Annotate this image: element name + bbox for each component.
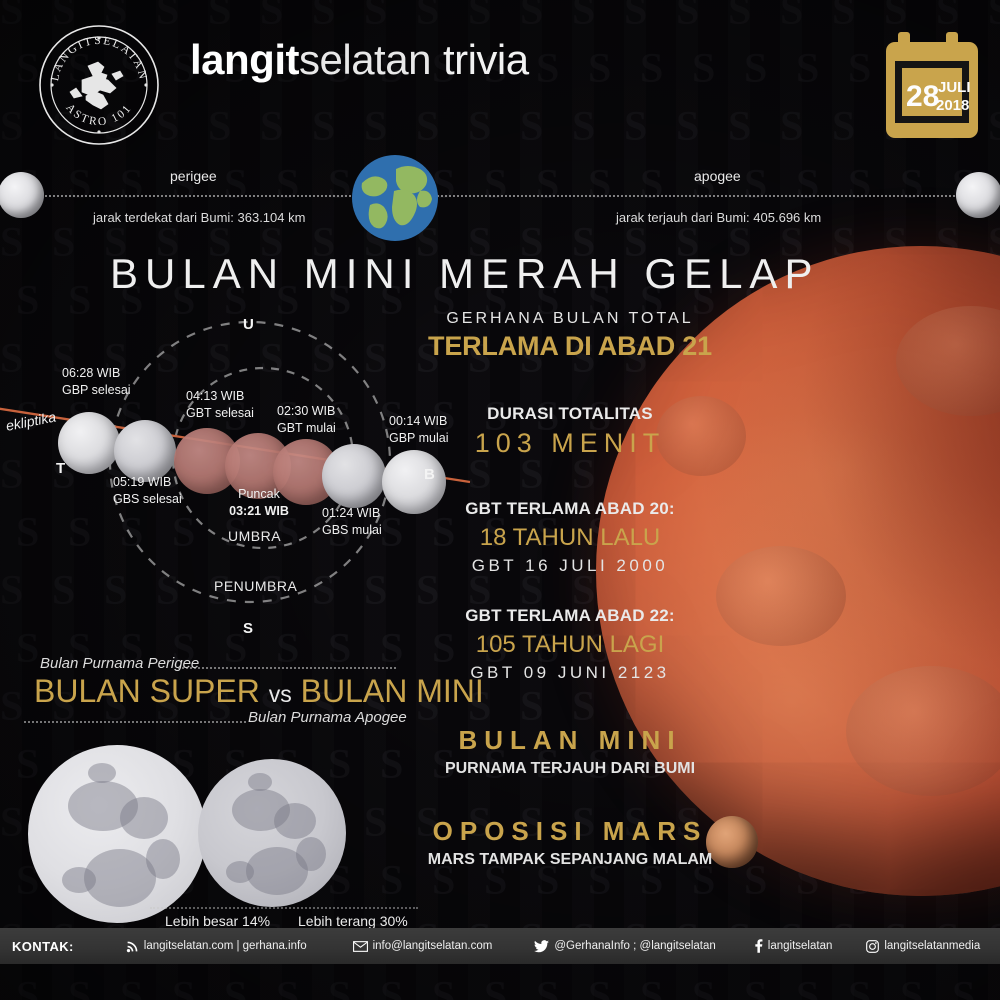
moon-crater	[716, 546, 846, 646]
earth-icon	[350, 153, 440, 243]
instagram-icon	[866, 940, 879, 953]
super-vs-mini-title: BULAN SUPER vs BULAN MINI	[34, 673, 484, 710]
contact-email-text: info@langitselatan.com	[373, 940, 493, 952]
calendar-day: 28	[906, 80, 939, 113]
direction-east: T	[56, 460, 65, 477]
brand-trivia: trivia	[443, 36, 529, 83]
header: LANGITSELATAN ASTRO 101 langitselatantri…	[0, 0, 1000, 150]
twitter-icon	[534, 940, 549, 953]
eclipse-kicker: GERHANA BULAN TOTAL	[420, 310, 720, 328]
eclipse-headline: TERLAMA DI ABAD 21	[420, 331, 720, 362]
umbra-label: UMBRA	[228, 528, 281, 544]
century22-value: 105 TAHUN LAGI	[420, 631, 720, 659]
phase-label-gbs-selesai: 05:19 WIBGBS selesai	[113, 474, 182, 508]
century20-label: GBT TERLAMA ABAD 20:	[420, 499, 720, 519]
century20-value: 18 TAHUN LALU	[420, 524, 720, 552]
calendar-month: JULI	[938, 79, 971, 96]
contact-website[interactable]: langitselatan.com | gerhana.info	[126, 940, 307, 953]
facts-column: GERHANA BULAN TOTAL TERLAMA DI ABAD 21 D…	[420, 310, 720, 869]
facebook-icon	[754, 939, 763, 953]
apogee-moon-icon	[956, 172, 1000, 218]
century22-label: GBT TERLAMA ABAD 22:	[420, 606, 720, 626]
moon-phase-gbs-selesai	[114, 420, 176, 482]
apogee-label: apogee	[694, 168, 741, 184]
mars-subtitle: MARS TAMPAK SEPANJANG MALAM	[420, 851, 720, 869]
caption-bigger: Lebih besar 14%	[165, 913, 270, 929]
contact-footer: KONTAK: langitselatan.com | gerhana.info…	[0, 928, 1000, 964]
minimoon-subtitle: PURNAMA TERJAUH DARI BUMI	[420, 760, 720, 778]
minimoon-block: BULAN MINI PURNAMA TERJAUH DARI BUMI	[420, 725, 720, 778]
contact-instagram-text: langitselatanmedia	[884, 940, 980, 952]
caption-dotted-line-top	[178, 667, 396, 669]
contact-facebook-text: langitselatan	[768, 940, 833, 952]
contact-twitter-text: @GerhanaInfo ; @langitselatan	[554, 940, 715, 952]
kontak-label: KONTAK:	[12, 939, 74, 954]
duration-block: DURASI TOTALITAS 103 MENIT	[420, 404, 720, 459]
rss-icon	[126, 940, 139, 953]
title-vs: vs	[269, 681, 292, 707]
apogee-distance: jarak terjauh dari Bumi: 405.696 km	[616, 210, 821, 225]
perigee-label: perigee	[170, 168, 217, 184]
page-title: BULAN MINI MERAH GELAP	[110, 250, 819, 298]
brand-langit: langit	[190, 36, 299, 83]
contact-website-text: langitselatan.com | gerhana.info	[144, 940, 307, 952]
contact-twitter[interactable]: @GerhanaInfo ; @langitselatan	[534, 940, 715, 953]
eclipse-path-diagram: U S T B ekliptika 06:28 WIBGBP selesai 0…	[0, 300, 480, 660]
minimoon-title: BULAN MINI	[420, 725, 720, 756]
caption-dotted-line-bottom	[24, 721, 246, 723]
apogee-fullmoon-caption: Bulan Purnama Apogee	[248, 709, 407, 726]
penumbra-label: PENUMBRA	[214, 578, 297, 594]
brand-selatan: selatan	[299, 36, 431, 83]
direction-south: S	[243, 620, 253, 637]
perigee-moon-icon	[0, 172, 44, 218]
minimoon-disc	[198, 759, 346, 907]
comparison-dotted-line-top	[150, 907, 418, 909]
phase-label-gbp-selesai: 06:28 WIBGBP selesai	[62, 365, 131, 399]
langitselatan-logo: LANGITSELATAN ASTRO 101	[38, 24, 160, 146]
brand-wordmark: langitselatantrivia	[190, 36, 529, 84]
moon-phase-gbp-selesai	[58, 412, 120, 474]
direction-north: U	[243, 316, 254, 333]
contact-email[interactable]: info@langitselatan.com	[353, 940, 493, 952]
caption-brighter: Lebih terang 30%	[298, 913, 408, 929]
supermoon-disc	[28, 745, 206, 923]
duration-value: 103 MENIT	[420, 428, 720, 459]
mars-title: OPOSISI MARS	[420, 816, 720, 847]
perigee-apogee-band: perigee jarak terdekat dari Bumi: 363.10…	[0, 150, 1000, 255]
perigee-distance: jarak terdekat dari Bumi: 363.104 km	[93, 210, 305, 225]
calendar-icon: 28 JULI 2018	[884, 30, 980, 140]
email-icon	[353, 941, 368, 952]
phase-label-gbs-mulai: 01:24 WIBGBS mulai	[322, 505, 382, 539]
title-bulan-super: BULAN SUPER	[34, 673, 260, 709]
super-vs-mini-section: Bulan Purnama Perigee BULAN SUPER vs BUL…	[0, 655, 420, 935]
phase-label-gbt-mulai: 02:30 WIBGBT mulai	[277, 403, 336, 437]
duration-label: DURASI TOTALITAS	[420, 404, 720, 424]
contact-facebook[interactable]: langitselatan	[754, 939, 833, 953]
century20-block: GBT TERLAMA ABAD 20: 18 TAHUN LALU GBT 1…	[420, 499, 720, 576]
peak-label: Puncak 03:21 WIB	[228, 486, 290, 520]
orbit-dotted-line	[18, 195, 982, 197]
mars-block: OPOSISI MARS MARS TAMPAK SEPANJANG MALAM	[420, 816, 720, 869]
moon-phase-gbs-mulai	[322, 444, 386, 508]
century20-date: GBT 16 JULI 2000	[420, 556, 720, 576]
phase-label-gbt-selesai: 04:13 WIBGBT selesai	[186, 388, 254, 422]
contact-instagram[interactable]: langitselatanmedia	[866, 940, 980, 953]
perigee-fullmoon-caption: Bulan Purnama Perigee	[40, 655, 199, 672]
calendar-year: 2018	[936, 97, 969, 114]
title-bulan-mini: BULAN MINI	[301, 673, 484, 709]
century22-block: GBT TERLAMA ABAD 22: 105 TAHUN LAGI GBT …	[420, 606, 720, 683]
